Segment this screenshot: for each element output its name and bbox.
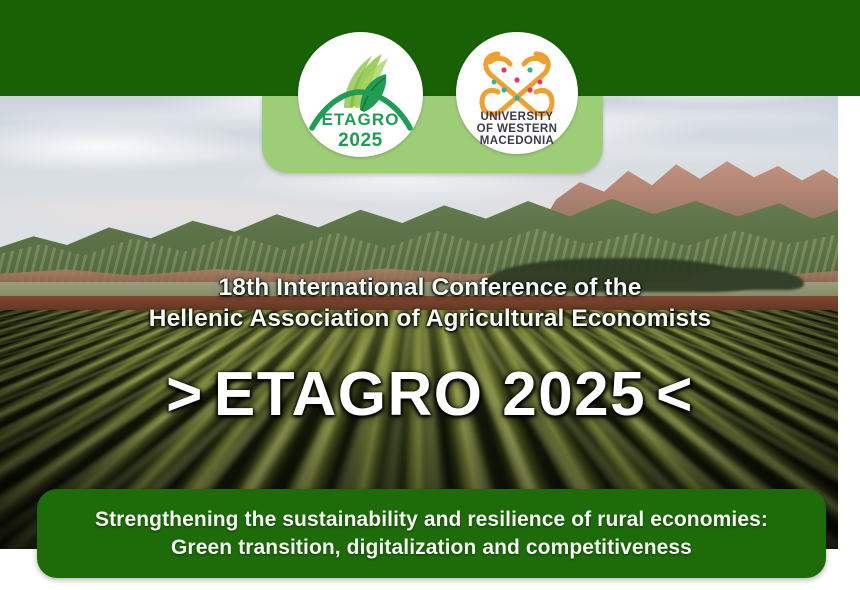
conference-title-line-2: Hellenic Association of Agricultural Eco… [0,303,860,334]
conference-title-line-1: 18th International Conference of the [0,272,860,303]
conference-title: 18th International Conference of the Hel… [0,272,860,334]
brand-heading: >ETAGRO 2025< [0,360,860,430]
etagro-logo-year: 2025 [338,130,383,151]
university-of-western-macedonia-logo[interactable]: UNIVERSITY OF WESTERN MACEDONIA [456,32,578,154]
theme-line-2: Green transition, digitalization and com… [95,534,768,562]
etagro-logo-name: ETAGRO [321,110,399,129]
theme-text: Strengthening the sustainability and res… [77,506,786,562]
wheat-leaf-sprout-icon: ETAGRO 2025 [298,32,423,157]
right-chevron-icon: < [646,360,704,430]
interlaced-knot-icon: UNIVERSITY OF WESTERN MACEDONIA [456,32,578,154]
uowm-label-line2: OF WESTERN [477,123,558,135]
brand-heading-text: ETAGRO 2025 [214,360,646,429]
left-chevron-icon: > [156,360,214,430]
uowm-label-line1: UNIVERSITY [480,111,553,123]
etagro-logo[interactable]: ETAGRO 2025 [298,32,423,157]
theme-banner: Strengthening the sustainability and res… [37,489,826,578]
conference-poster: ETAGRO 2025 UNIVERSITY OF [0,0,860,590]
theme-line-1: Strengthening the sustainability and res… [95,506,768,534]
uowm-label-line3: MACEDONIA [480,135,555,147]
header-bar [0,0,860,96]
